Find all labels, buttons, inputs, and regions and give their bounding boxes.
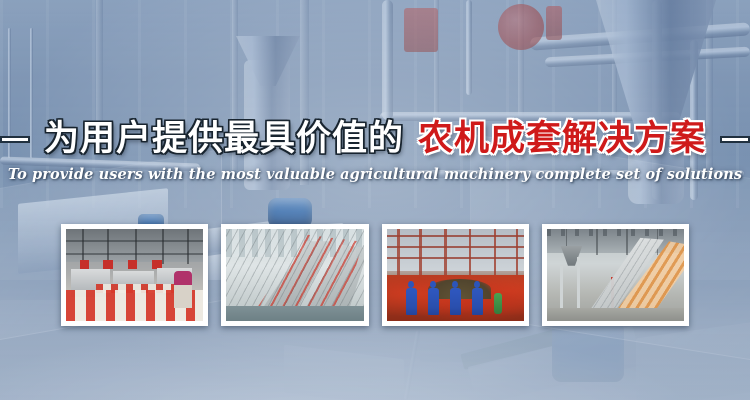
background-factory-scene bbox=[0, 0, 750, 400]
thumbnail-item[interactable] bbox=[61, 224, 208, 326]
hero-banner: 为用户提供最具价值的 农机成套解决方案 To provide users wit… bbox=[0, 0, 750, 400]
thumbnail-image-workers-chili bbox=[387, 229, 524, 321]
background-haze bbox=[0, 0, 750, 400]
thumbnail-image-packaging-line bbox=[66, 229, 203, 321]
subheadline: To provide users with the most valuable … bbox=[0, 166, 750, 183]
thumbnail-image-elevator-produce bbox=[547, 229, 684, 321]
right-dash-icon bbox=[720, 136, 750, 143]
headline: 为用户提供最具价值的 农机成套解决方案 bbox=[0, 122, 750, 157]
headline-text-white: 为用户提供最具价值的 bbox=[44, 122, 404, 157]
thumbnail-item[interactable] bbox=[542, 224, 689, 326]
thumbnail-strip bbox=[61, 224, 689, 326]
thumbnail-image-conveyor-red bbox=[226, 229, 363, 321]
headline-text-red: 农机成套解决方案 bbox=[418, 122, 706, 157]
thumbnail-item[interactable] bbox=[382, 224, 529, 326]
headline-block: 为用户提供最具价值的 农机成套解决方案 To provide users wit… bbox=[0, 122, 750, 183]
left-dash-icon bbox=[0, 136, 30, 143]
thumbnail-item[interactable] bbox=[221, 224, 368, 326]
